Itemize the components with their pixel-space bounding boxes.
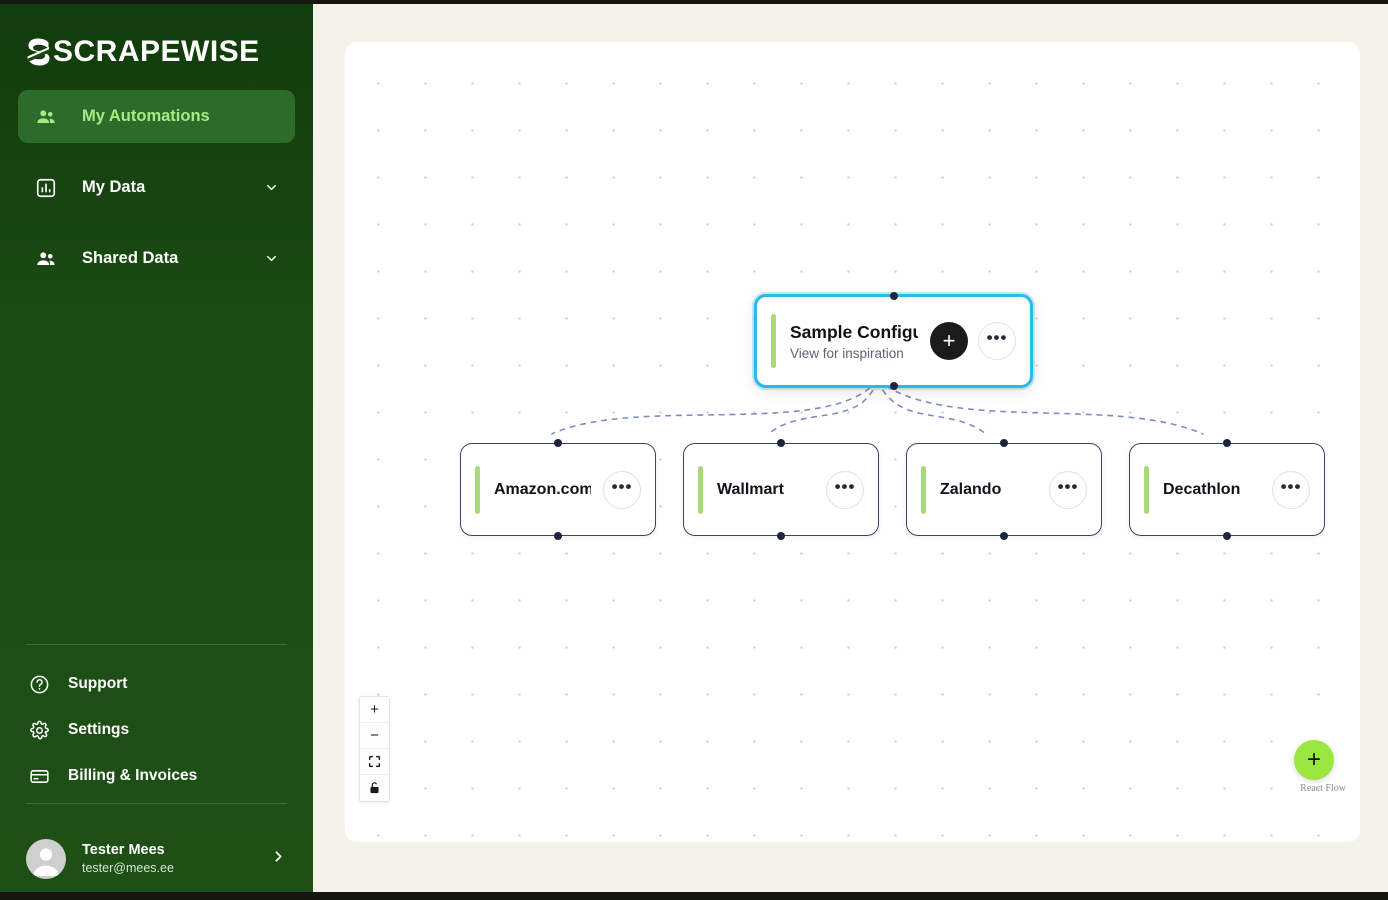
profile-name: Tester Mees <box>82 841 174 861</box>
node-handle-bottom[interactable] <box>1000 532 1008 540</box>
add-automation-button[interactable]: + <box>1294 740 1334 780</box>
sidebar-spacer <box>0 303 313 644</box>
profile-email: tester@mees.ee <box>82 860 174 877</box>
help-circle-icon <box>28 673 50 695</box>
sidebar-item-label: Support <box>68 675 127 693</box>
sidebar-item-label: Settings <box>68 721 129 739</box>
flow-canvas[interactable]: Sample Configur… View for inspiration + … <box>345 42 1360 842</box>
sidebar-item-label: My Data <box>82 178 145 197</box>
slashed-s-logo-icon <box>26 36 52 68</box>
node-title: Amazon.com J… <box>494 481 591 499</box>
sidebar-secondary-nav: Support Settings <box>0 645 313 803</box>
node-handle-top[interactable] <box>1000 439 1008 447</box>
node-more-options-button[interactable]: ••• <box>603 471 641 509</box>
main-content: Sample Configur… View for inspiration + … <box>313 0 1388 900</box>
flow-node-root[interactable]: Sample Configur… View for inspiration + … <box>754 294 1033 388</box>
node-more-options-button[interactable]: ••• <box>978 322 1016 360</box>
node-more-options-button[interactable]: ••• <box>1049 471 1087 509</box>
node-title: Decathlon <box>1163 481 1240 499</box>
node-title: Sample Configur… <box>790 322 918 343</box>
bar-chart-icon <box>34 176 58 200</box>
sidebar-item-label: My Automations <box>82 107 210 126</box>
sidebar-item-my-data[interactable]: My Data <box>18 161 295 214</box>
node-more-options-button[interactable]: ••• <box>826 471 864 509</box>
node-accent-bar <box>771 314 776 368</box>
node-handle-bottom[interactable] <box>777 532 785 540</box>
window-bottom-strip <box>0 892 1388 900</box>
flow-node-decathlon[interactable]: Decathlon ••• <box>1129 443 1325 536</box>
node-handle-top[interactable] <box>1223 439 1231 447</box>
app-logo[interactable]: SCRAPEWISE <box>0 4 313 82</box>
sidebar-item-support[interactable]: Support <box>18 661 295 707</box>
node-accent-bar <box>475 466 480 514</box>
node-handle-bottom[interactable] <box>554 532 562 540</box>
flow-node-amazon[interactable]: Amazon.com J… ••• <box>460 443 656 536</box>
node-subtitle: View for inspiration <box>790 346 918 361</box>
avatar <box>26 839 66 879</box>
flow-node-zalando[interactable]: Zalando ••• <box>906 443 1102 536</box>
node-accent-bar <box>921 466 926 514</box>
node-title: Wallmart <box>717 481 784 499</box>
fit-view-button[interactable] <box>360 749 389 775</box>
sidebar-profile[interactable]: Tester Mees tester@mees.ee <box>0 804 313 900</box>
node-handle-top[interactable] <box>890 292 898 300</box>
sidebar-item-shared-data[interactable]: Shared Data <box>18 232 295 285</box>
credit-card-icon <box>28 765 50 787</box>
sidebar-item-label: Billing & Invoices <box>68 767 197 785</box>
zoom-controls: + − <box>359 696 390 802</box>
app-root: SCRAPEWISE My Automations <box>0 0 1388 900</box>
chevron-right-icon[interactable] <box>270 848 287 870</box>
flow-node-wallmart[interactable]: Wallmart ••• <box>683 443 879 536</box>
zoom-in-button[interactable]: + <box>360 697 389 723</box>
node-handle-top[interactable] <box>777 439 785 447</box>
window-top-strip <box>0 0 1388 4</box>
node-handle-bottom[interactable] <box>1223 532 1231 540</box>
zoom-out-button[interactable]: − <box>360 723 389 749</box>
app-logo-text: SCRAPEWISE <box>53 35 260 69</box>
sidebar-item-my-automations[interactable]: My Automations <box>18 90 295 143</box>
sidebar-item-label: Shared Data <box>82 249 178 268</box>
people-icon <box>34 105 58 129</box>
add-child-node-button[interactable]: + <box>930 322 968 360</box>
sidebar-item-settings[interactable]: Settings <box>18 707 295 753</box>
node-more-options-button[interactable]: ••• <box>1272 471 1310 509</box>
chevron-down-icon[interactable] <box>263 251 279 267</box>
node-handle-top[interactable] <box>554 439 562 447</box>
react-flow-attribution[interactable]: React Flow <box>1300 783 1346 794</box>
node-handle-bottom[interactable] <box>890 382 898 390</box>
node-title: Zalando <box>940 481 1001 499</box>
gear-icon <box>28 719 50 741</box>
lock-button[interactable] <box>360 775 389 801</box>
chevron-down-icon[interactable] <box>263 180 279 196</box>
sidebar-primary-nav: My Automations My Data <box>0 82 313 303</box>
sidebar: SCRAPEWISE My Automations <box>0 0 313 900</box>
node-accent-bar <box>698 466 703 514</box>
sidebar-item-billing-invoices[interactable]: Billing & Invoices <box>18 753 295 799</box>
flow-edges <box>345 42 1360 842</box>
node-accent-bar <box>1144 466 1149 514</box>
people-icon <box>34 247 58 271</box>
